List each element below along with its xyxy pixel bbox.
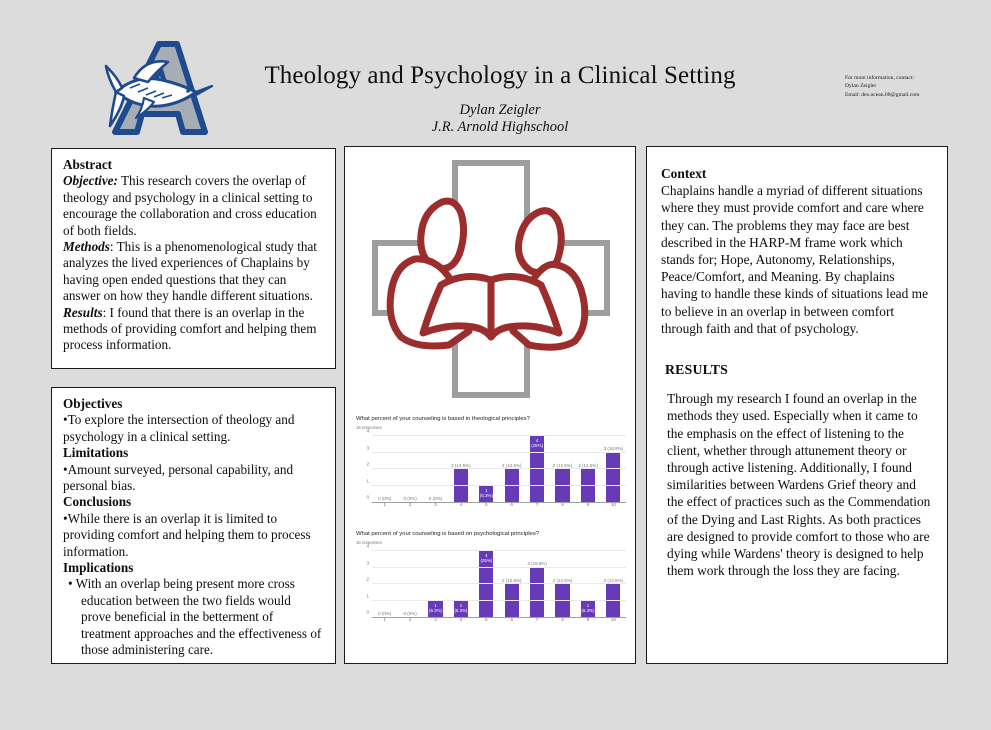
abstract-methods-label: Methods: [63, 239, 110, 254]
page-title: Theology and Psychology in a Clinical Se…: [230, 62, 770, 90]
chart-2-bar: 3 (18.8%): [530, 568, 544, 618]
chart-1-subtitle: 16 responses: [356, 424, 626, 431]
chart-1-bar-label: 0 (0%): [403, 496, 416, 501]
institution-name: J.R. Arnold Highschool: [230, 119, 770, 136]
chart-2-bar-slot: 1(6.3%): [575, 551, 600, 617]
conclusions-heading: Conclusions: [63, 494, 324, 510]
contact-block: For more information, contact: Dylan Zei…: [845, 74, 919, 99]
abstract-objective: Objective: This research covers the over…: [63, 173, 324, 239]
chart-1-bar-label: 2 (12.5%): [553, 463, 573, 468]
chart-2-x-tick: 1: [372, 618, 397, 623]
chart-1-x-tick: 5: [474, 503, 499, 508]
chart-2-y-tick: 3: [366, 560, 369, 565]
abstract-methods: Methods: This is a phenomenological stud…: [63, 239, 324, 305]
chart-2-bar-slot: 2 (12.5%): [601, 551, 626, 617]
chart-2-x-tick: 9: [575, 618, 600, 623]
research-poster: Theology and Psychology in a Clinical Se…: [0, 0, 991, 730]
abstract-results-label: Results: [63, 305, 103, 320]
chart-1-bar-slot: 2 (12.5%): [499, 436, 524, 502]
chart-1-bar-label: 0 (0%): [378, 496, 391, 501]
chart-2-gridline: [372, 550, 626, 551]
chart-1-bar-slot: 2 (12.5%): [448, 436, 473, 502]
context-text: Chaplains handle a myriad of different s…: [661, 182, 933, 337]
chart-1-bar-slot: 0 (0%): [397, 436, 422, 502]
contact-line-2: Dylan Zeigler: [845, 82, 919, 90]
chart-2-title: What percent of your counseling is based…: [356, 530, 626, 538]
chart-1-gridline: [372, 468, 626, 469]
chart-2-bar-label: 0 (0%): [403, 611, 416, 616]
chart-2-bar-label: 2 (12.5%): [604, 578, 624, 583]
chart-1-bar-slot: 4(25%): [524, 436, 549, 502]
chart-2-grid: 0 (0%)0 (0%)1(6.3%)1(6.3%)4(25%)2 (12.5%…: [372, 551, 626, 618]
conclusions-bullet: •While there is an overlap it is limited…: [63, 511, 324, 560]
chart-1-bar: 2 (12.5%): [555, 469, 569, 502]
chart-2-x-tick: 3: [423, 618, 448, 623]
chart-2-bar-slot: 1(6.3%): [423, 551, 448, 617]
center-figures-panel: What percent of your counseling is based…: [344, 146, 636, 664]
limitations-heading: Limitations: [63, 445, 324, 461]
chart-2-x-tick: 10: [601, 618, 626, 623]
chart-1-bar-label: 4(25%): [531, 438, 543, 448]
chart-2-bar-label: 1(6.3%): [429, 603, 442, 613]
chart-1-bar: 2 (12.5%): [505, 469, 519, 502]
chart-1-bar: 4(25%): [530, 436, 544, 502]
chart-1-bar-label: 2 (12.5%): [502, 463, 522, 468]
chart-2-bar: 4(25%): [479, 551, 493, 617]
byline: Dylan Zeigler J.R. Arnold Highschool: [230, 102, 770, 136]
chart-2-bar: 1(6.3%): [428, 601, 442, 618]
chart-2-x-tick: 5: [474, 618, 499, 623]
implications-heading: Implications: [63, 560, 324, 576]
objectives-heading: Objectives: [63, 396, 324, 412]
chart-1-bar: 2 (12.5%): [581, 469, 595, 502]
chart-2-plot: 01234 0 (0%)0 (0%)1(6.3%)1(6.3%)4(25%)2 …: [356, 551, 626, 629]
chart-psychological-principles: What percent of your counseling is based…: [356, 530, 626, 629]
chart-2-bar-slot: 1(6.3%): [448, 551, 473, 617]
chart-1-grid: 0 (0%)0 (0%)0 (0%)2 (12.5%)1(6.3%)2 (12.…: [372, 436, 626, 503]
chart-2-x-axis: 12345678910: [372, 618, 626, 623]
chart-1-x-tick: 1: [372, 503, 397, 508]
chart-1-gridline: [372, 435, 626, 436]
chart-1-bar: 1(6.3%): [479, 486, 493, 503]
chart-1-x-tick: 10: [601, 503, 626, 508]
chart-1-x-tick: 3: [423, 503, 448, 508]
chart-1-x-tick: 2: [397, 503, 422, 508]
chart-2-bar: 2 (12.5%): [555, 584, 569, 617]
chart-1-bar-slot: 0 (0%): [423, 436, 448, 502]
chart-1-bar-slot: 0 (0%): [372, 436, 397, 502]
chart-1-bars: 0 (0%)0 (0%)0 (0%)2 (12.5%)1(6.3%)2 (12.…: [372, 436, 626, 502]
chart-2-gridline: [372, 600, 626, 601]
chart-2-y-tick: 1: [366, 593, 369, 598]
contact-email: Email: dez.ocean.08@gmail.com: [845, 91, 919, 99]
chart-2-x-tick: 7: [524, 618, 549, 623]
chart-2-bar: 2 (12.5%): [505, 584, 519, 617]
contact-line-1: For more information, contact:: [845, 74, 919, 82]
chart-1-x-axis: 12345678910: [372, 503, 626, 508]
limitations-bullet: •Amount surveyed, personal capability, a…: [63, 462, 324, 495]
chart-2-y-tick: 4: [366, 544, 369, 549]
chart-1-bar-slot: 2 (12.5%): [550, 436, 575, 502]
implications-bullet: • With an overlap being present more cro…: [63, 576, 324, 658]
objectives-panel: Objectives •To explore the intersection …: [51, 387, 336, 664]
context-heading: Context: [661, 165, 933, 182]
chart-1-y-tick: 4: [366, 429, 369, 434]
results-heading: RESULTS: [661, 361, 933, 378]
abstract-heading: Abstract: [63, 157, 324, 173]
chart-2-bar-slot: 2 (12.5%): [550, 551, 575, 617]
results-text: Through my research I found an overlap i…: [661, 390, 933, 579]
chart-1-x-tick: 9: [575, 503, 600, 508]
chart-1-bar-label: 2 (12.5%): [578, 463, 598, 468]
chart-1-y-tick: 3: [366, 445, 369, 450]
chart-2-bar-label: 0 (0%): [378, 611, 391, 616]
chart-1-x-tick: 6: [499, 503, 524, 508]
chart-1-y-tick: 1: [366, 478, 369, 483]
chart-2-gridline: [372, 583, 626, 584]
chart-2-x-tick: 6: [499, 618, 524, 623]
objectives-bullet: •To explore the intersection of theology…: [63, 412, 324, 445]
chart-2-x-tick: 4: [448, 618, 473, 623]
jr-arnold-marlins-a-logo: [104, 34, 216, 146]
chart-1-bar-slot: 1(6.3%): [474, 436, 499, 502]
chart-1-gridline: [372, 485, 626, 486]
chart-2-x-tick: 8: [550, 618, 575, 623]
chart-2-y-tick: 2: [366, 577, 369, 582]
chart-1-bar-slot: 3 (18.8%): [601, 436, 626, 502]
abstract-panel: Abstract Objective: This research covers…: [51, 148, 336, 369]
chart-2-bars: 0 (0%)0 (0%)1(6.3%)1(6.3%)4(25%)2 (12.5%…: [372, 551, 626, 617]
chart-2-gridline: [372, 567, 626, 568]
chart-2-bar-label: 2 (12.5%): [553, 578, 573, 583]
chart-theological-principles: What percent of your counseling is based…: [356, 415, 626, 514]
chart-1-bar-label: 3 (18.8%): [604, 446, 624, 451]
chart-1-bar: 3 (18.8%): [606, 453, 620, 503]
chart-2-bar-label: 3 (18.8%): [527, 561, 547, 566]
chart-1-title: What percent of your counseling is based…: [356, 415, 626, 423]
chart-2-bar-label: 1(6.3%): [454, 603, 467, 613]
two-people-reading-book-on-cross-illustration: [345, 155, 637, 403]
chart-1-y-tick: 2: [366, 462, 369, 467]
abstract-results: Results: I found that there is an overla…: [63, 305, 324, 354]
chart-1-bar-label: 0 (0%): [429, 496, 442, 501]
chart-1-bar: 2 (12.5%): [454, 469, 468, 502]
chart-2-bar-slot: 3 (18.8%): [524, 551, 549, 617]
chart-1-bar-slot: 2 (12.5%): [575, 436, 600, 502]
chart-2-bar-label: 2 (12.5%): [502, 578, 522, 583]
chart-2-bar-slot: 4(25%): [474, 551, 499, 617]
chart-1-y-tick: 0: [366, 495, 369, 500]
title-block: Theology and Psychology in a Clinical Se…: [230, 62, 770, 136]
chart-1-y-axis: 01234: [356, 436, 372, 502]
context-results-panel: Context Chaplains handle a myriad of dif…: [646, 146, 948, 664]
chart-1-bar-label: 1(6.3%): [480, 488, 493, 498]
chart-1-plot: 01234 0 (0%)0 (0%)0 (0%)2 (12.5%)1(6.3%)…: [356, 436, 626, 514]
chart-2-bar-label: 1(6.3%): [581, 603, 594, 613]
chart-2-bar-slot: 0 (0%): [397, 551, 422, 617]
chart-1-x-tick: 4: [448, 503, 473, 508]
chart-2-subtitle: 16 responses: [356, 539, 626, 546]
chart-2-bar-slot: 0 (0%): [372, 551, 397, 617]
chart-1-x-tick: 8: [550, 503, 575, 508]
chart-2-bar-slot: 2 (12.5%): [499, 551, 524, 617]
chart-2-bar: 1(6.3%): [581, 601, 595, 618]
abstract-objective-label: Objective:: [63, 173, 118, 188]
chart-2-bar: 2 (12.5%): [606, 584, 620, 617]
chart-2-x-tick: 2: [397, 618, 422, 623]
chart-2-y-axis: 01234: [356, 551, 372, 617]
poster-header: Theology and Psychology in a Clinical Se…: [0, 0, 991, 148]
chart-1-bar-label: 2 (12.5%): [451, 463, 471, 468]
chart-2-y-tick: 0: [366, 610, 369, 615]
chart-2-bar: 1(6.3%): [454, 601, 468, 618]
chart-2-bar-label: 4(25%): [480, 553, 492, 563]
chart-1-gridline: [372, 452, 626, 453]
author-name: Dylan Zeigler: [230, 102, 770, 119]
chart-1-x-tick: 7: [524, 503, 549, 508]
